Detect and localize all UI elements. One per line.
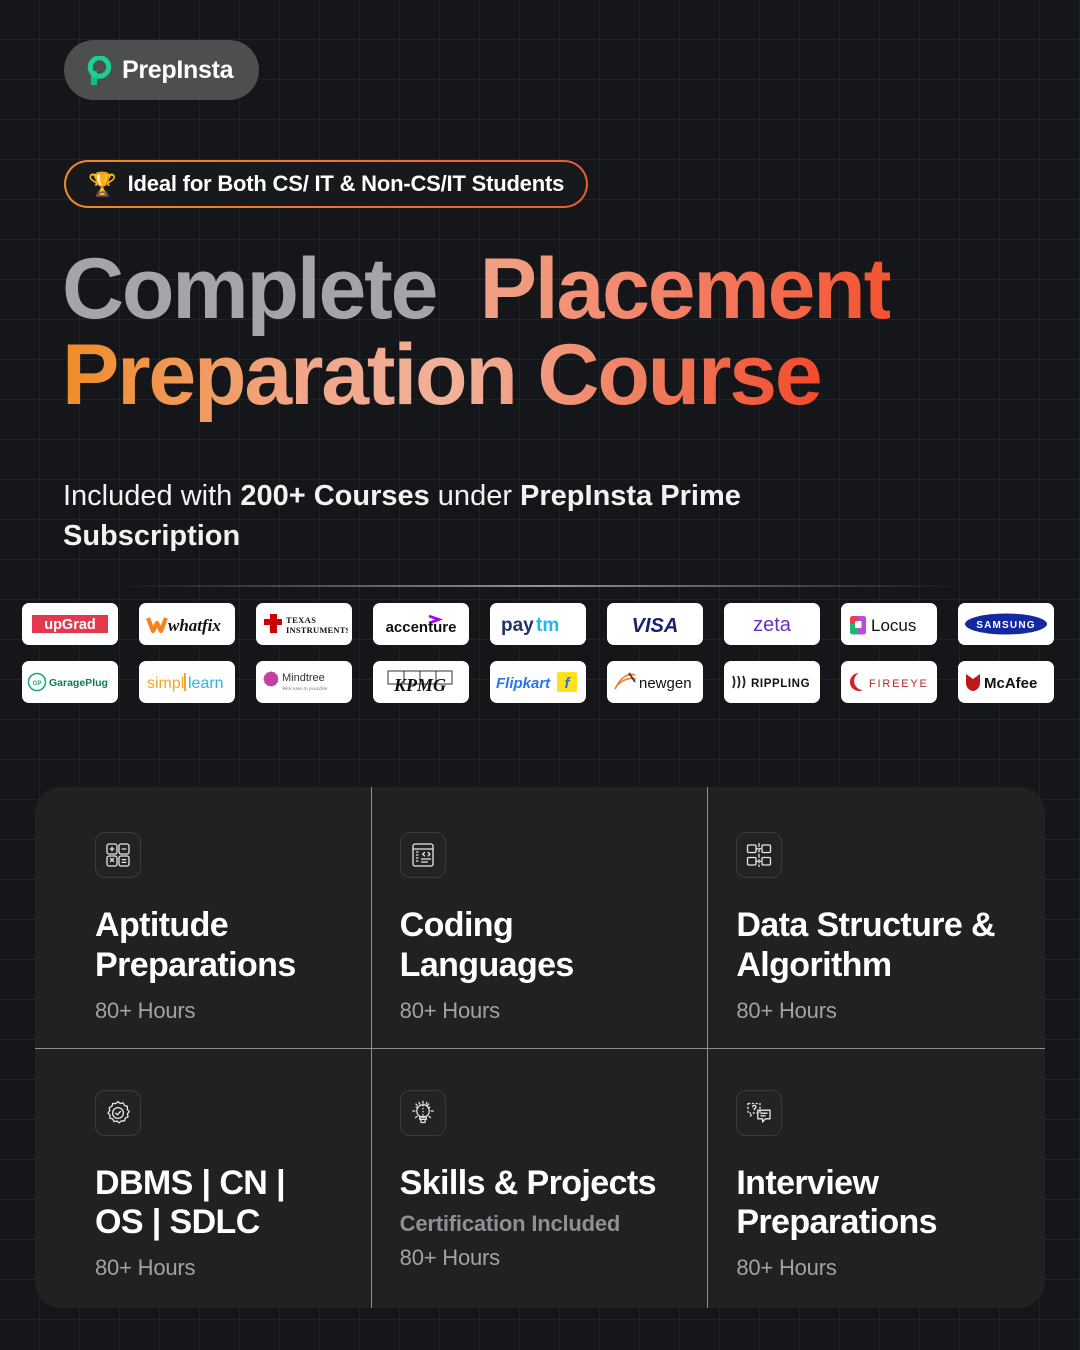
feature-card-skills-projects[interactable]: Skills & Projects Certification Included… [372,1048,709,1309]
feature-card-aptitude-preparations[interactable]: Aptitude Preparations 80+ Hours [35,787,372,1048]
feature-card-interview-preparations[interactable]: Interview Preparations 80+ Hours [708,1048,1045,1309]
logo-locus: Locus [841,603,937,645]
lightbulb-icon [400,1090,446,1136]
svg-text:INSTRUMENTS: INSTRUMENTS [286,625,348,635]
svg-text:newgen: newgen [639,675,692,692]
svg-text:accenture: accenture [386,619,457,636]
subtitle-part-2: under [430,480,520,512]
subtitle-bold-courses: 200+ Courses [240,480,429,512]
svg-text:upGrad: upGrad [44,617,96,633]
logo-mcafee: McAfee [958,661,1054,703]
logo-row-2: GP GaragePlug simpl learn Mindtree Welco… [0,661,1080,703]
svg-text:zeta: zeta [753,614,792,636]
logo-row-1: upGrad whatfix TEXAS INSTRUMENTS acce [0,603,1080,645]
svg-text:SAMSUNG: SAMSUNG [976,620,1036,631]
feature-title: Interview Preparations [736,1164,1011,1244]
headline-word-placement: Placement [480,241,890,337]
feature-card-data-structure-algorithm[interactable]: Data Structure & Algorithm 80+ Hours [708,787,1045,1048]
logo-accenture: accenture [373,603,469,645]
svg-text:Locus: Locus [871,616,916,635]
feature-hours: 80+ Hours [736,1255,1011,1281]
svg-text:TEXAS: TEXAS [286,615,316,625]
svg-text:pay: pay [501,615,534,636]
logo-upgrad: upGrad [22,603,118,645]
logo-kpmg: KPMG [373,661,469,703]
logo-samsung: SAMSUNG [958,603,1054,645]
feature-hours: 80+ Hours [95,1255,338,1281]
svg-text:Welcome to possible: Welcome to possible [282,686,328,692]
svg-text:GP: GP [33,681,42,687]
feature-title: Aptitude Preparations [95,906,338,986]
logo-garageplug: GP GaragePlug [22,661,118,703]
headline-word-complete: Complete [62,241,436,337]
feature-title: DBMS | CN | OS | SDLC [95,1164,338,1244]
svg-text:Flipkart: Flipkart [496,675,551,692]
feature-subtitle: Certification Included [400,1211,675,1237]
chat-question-icon [736,1090,782,1136]
svg-text:VISA: VISA [632,615,679,635]
feature-hours: 80+ Hours [736,998,1011,1024]
svg-text:tm: tm [536,615,559,636]
ideal-for-students-badge[interactable]: 🏆 Ideal for Both CS/ IT & Non-CS/IT Stud… [64,160,588,208]
code-document-icon [400,832,446,878]
page-subtitle: Included with 200+ Courses under PrepIns… [63,476,893,556]
logo-rippling: RIPPLING [724,661,820,703]
logo-simplilearn: simpl learn [139,661,235,703]
svg-text:simpl: simpl [147,675,184,692]
feature-title: Data Structure & Algorithm [736,906,1011,986]
prepinsta-p-icon [86,56,112,84]
logo-texas-instruments: TEXAS INSTRUMENTS [256,603,352,645]
ideal-badge-label: Ideal for Both CS/ IT & Non-CS/IT Studen… [128,171,564,197]
promo-page: PrepInsta 🏆 Ideal for Both CS/ IT & Non-… [0,0,1080,1350]
logo-flipkart: Flipkart f [490,661,586,703]
logo-mindtree: Mindtree Welcome to possible [256,661,352,703]
calculator-icon [95,832,141,878]
logo-newgen: newgen [607,661,703,703]
company-logo-strip: upGrad whatfix TEXAS INSTRUMENTS acce [0,603,1080,719]
trophy-icon: 🏆 [88,173,117,196]
logo-paytm: pay tm [490,603,586,645]
feature-title: Skills & Projects [400,1164,675,1204]
svg-text:learn: learn [188,675,224,692]
section-divider [120,585,960,587]
feature-title: Coding Languages [400,906,675,986]
logo-whatfix: whatfix [139,603,235,645]
subtitle-part-1: Included with [63,480,240,512]
svg-text:KPMG: KPMG [393,675,446,695]
svg-text:GaragePlug: GaragePlug [49,677,108,689]
gear-check-icon [95,1090,141,1136]
feature-hours: 80+ Hours [400,998,675,1024]
logo-visa: VISA [607,603,703,645]
svg-text:FIREEYE: FIREEYE [869,678,929,690]
svg-text:McAfee: McAfee [984,675,1037,692]
brand-name: PrepInsta [122,56,233,85]
feature-hours: 80+ Hours [400,1245,675,1271]
brand-logo-pill[interactable]: PrepInsta [64,40,259,100]
feature-card-dbms-cn-os-sdlc[interactable]: DBMS | CN | OS | SDLC 80+ Hours [35,1048,372,1309]
logo-fireeye: FIREEYE [841,661,937,703]
course-modules-panel: Aptitude Preparations 80+ Hours Coding L… [35,787,1045,1308]
svg-text:whatfix: whatfix [168,616,221,635]
svg-text:Mindtree: Mindtree [282,672,325,684]
data-structure-nodes-icon [736,832,782,878]
headline-line-preparation-course: Preparation Course [62,327,821,423]
page-title: Complete Placement Preparation Course [62,246,1032,418]
feature-card-coding-languages[interactable]: Coding Languages 80+ Hours [372,787,709,1048]
svg-text:RIPPLING: RIPPLING [751,678,810,690]
logo-zeta: zeta [724,603,820,645]
feature-hours: 80+ Hours [95,998,338,1024]
